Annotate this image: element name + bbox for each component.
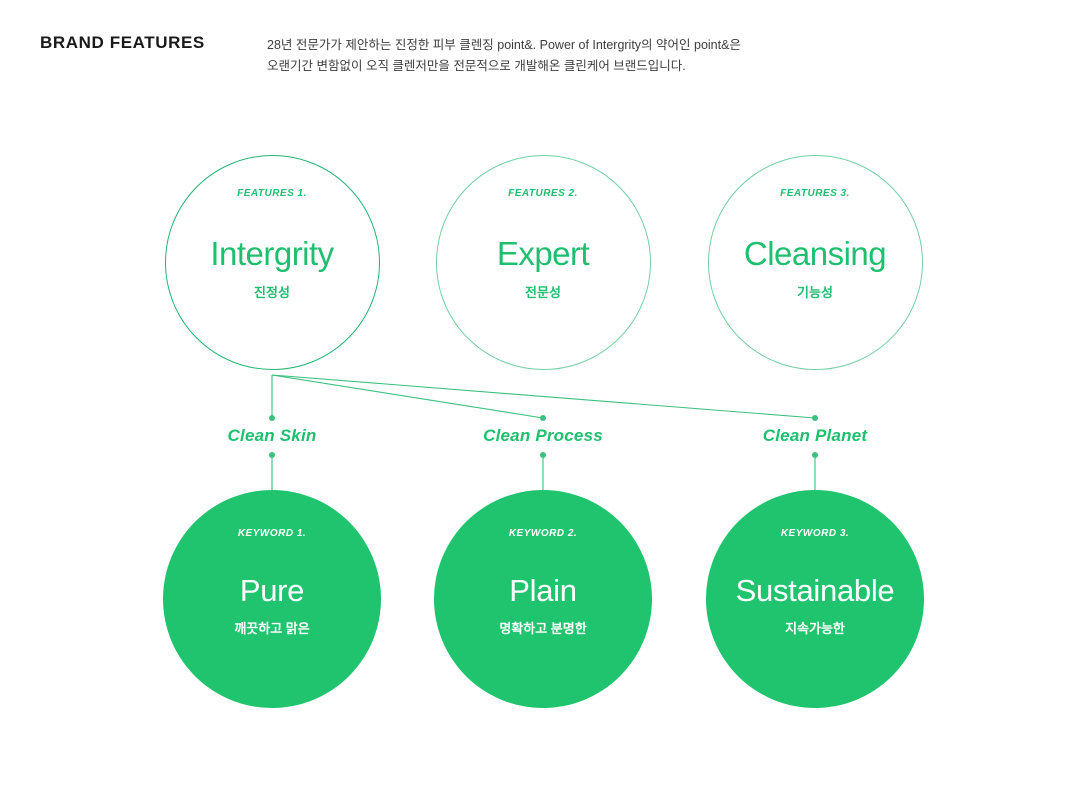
intro-line-1: 28년 전문가가 제안하는 진정한 피부 클렌징 point&. Power o…: [267, 35, 787, 56]
connector-upper-3: [272, 375, 815, 418]
keyword-kicker: KEYWORD 3.: [781, 528, 849, 539]
connector-dot-upper-1: [269, 415, 275, 421]
brand-features-infographic: BRAND FEATURES 28년 전문가가 제안하는 진정한 피부 클렌징 …: [0, 0, 1087, 800]
feature-title: Expert: [497, 237, 589, 270]
feature-kicker: FEATURES 1.: [237, 188, 307, 199]
feature-circle-2[interactable]: FEATURES 2. Expert 전문성: [436, 155, 651, 370]
keyword-circle-3[interactable]: KEYWORD 3. Sustainable 지속가능한: [706, 490, 924, 708]
keyword-kicker: KEYWORD 2.: [509, 528, 577, 539]
keyword-title: Plain: [509, 575, 576, 606]
keyword-title: Pure: [240, 575, 304, 606]
keyword-circle-1[interactable]: KEYWORD 1. Pure 깨끗하고 맑은: [163, 490, 381, 708]
mid-label-clean-skin: Clean Skin: [228, 426, 317, 446]
connector-dot-upper-2: [540, 415, 546, 421]
keyword-subtitle: 지속가능한: [785, 618, 845, 637]
keyword-subtitle: 깨끗하고 맑은: [234, 618, 309, 637]
intro-paragraph: 28년 전문가가 제안하는 진정한 피부 클렌징 point&. Power o…: [267, 35, 787, 77]
feature-kicker: FEATURES 3.: [780, 188, 850, 199]
feature-title: Intergrity: [210, 237, 333, 270]
feature-subtitle: 진정성: [254, 282, 290, 301]
feature-subtitle: 기능성: [797, 282, 833, 301]
keyword-circle-2[interactable]: KEYWORD 2. Plain 명확하고 분명한: [434, 490, 652, 708]
keyword-subtitle: 명확하고 분명한: [499, 618, 586, 637]
connector-dot-lower-3: [812, 452, 818, 458]
intro-line-2: 오랜기간 변함없이 오직 클렌저만을 전문적으로 개발해온 클린케어 브랜드입니…: [267, 56, 787, 77]
keyword-kicker: KEYWORD 1.: [238, 528, 306, 539]
feature-circle-1[interactable]: FEATURES 1. Intergrity 진정성: [165, 155, 380, 370]
mid-label-clean-planet: Clean Planet: [763, 426, 867, 446]
mid-label-clean-process: Clean Process: [483, 426, 603, 446]
connector-upper-2: [272, 375, 543, 418]
connector-dot-upper-3: [812, 415, 818, 421]
connector-dot-lower-2: [540, 452, 546, 458]
keyword-title: Sustainable: [736, 575, 895, 606]
feature-circle-3[interactable]: FEATURES 3. Cleansing 기능성: [708, 155, 923, 370]
feature-title: Cleansing: [744, 237, 886, 270]
page-title: BRAND FEATURES: [40, 33, 205, 53]
feature-kicker: FEATURES 2.: [508, 188, 578, 199]
connector-dot-lower-1: [269, 452, 275, 458]
feature-subtitle: 전문성: [525, 282, 561, 301]
